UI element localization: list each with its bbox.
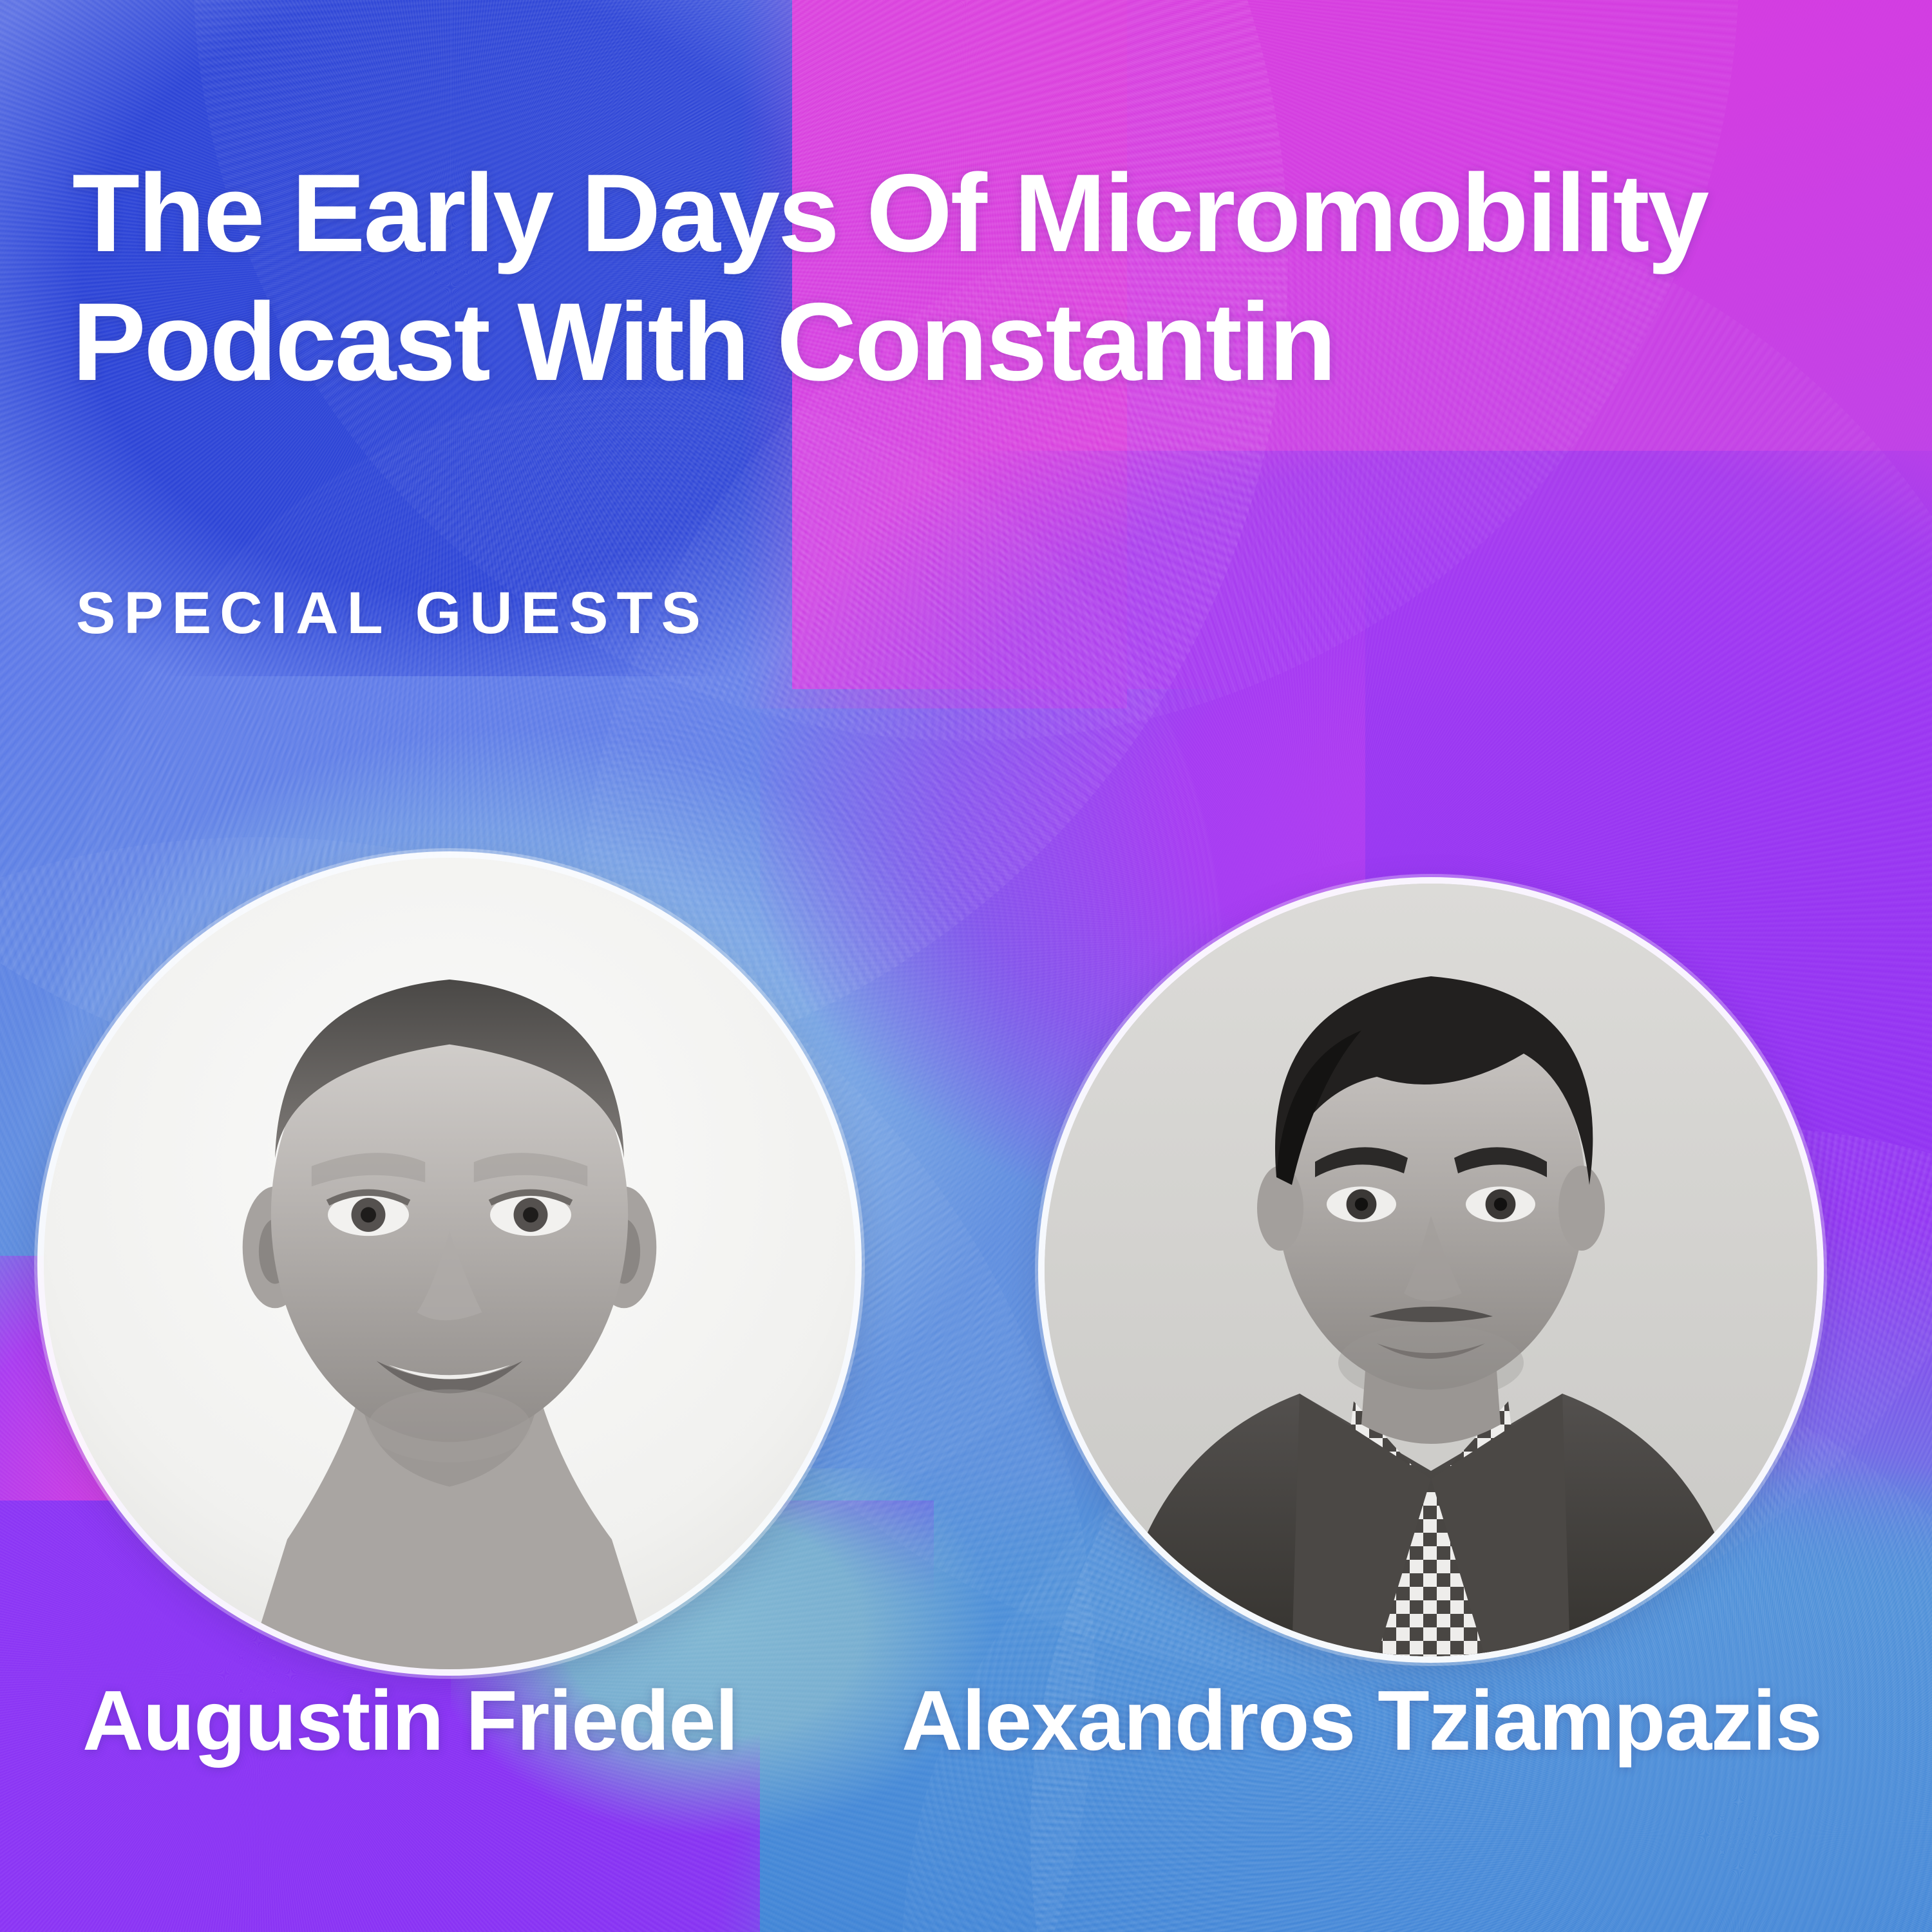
guest-headshot-illustration-left — [44, 858, 855, 1669]
guest-photo-augustin-friedel — [44, 858, 855, 1669]
guest-photo-alexandros-tziampazis — [1045, 884, 1817, 1656]
guest-names-row: Augustin Friedel Alexandros Tziampazis — [0, 1672, 1932, 1788]
podcast-cover-artwork: The Early Days Of Micromobility Podcast … — [0, 0, 1932, 1932]
special-guests-label: SPECIAL GUESTS — [76, 580, 709, 647]
episode-title: The Early Days Of Micromobility Podcast … — [72, 149, 1856, 406]
guest-name-left: Augustin Friedel — [82, 1672, 737, 1769]
guest-headshot-illustration-right — [1045, 884, 1817, 1656]
guest-name-right: Alexandros Tziampazis — [902, 1672, 1821, 1769]
